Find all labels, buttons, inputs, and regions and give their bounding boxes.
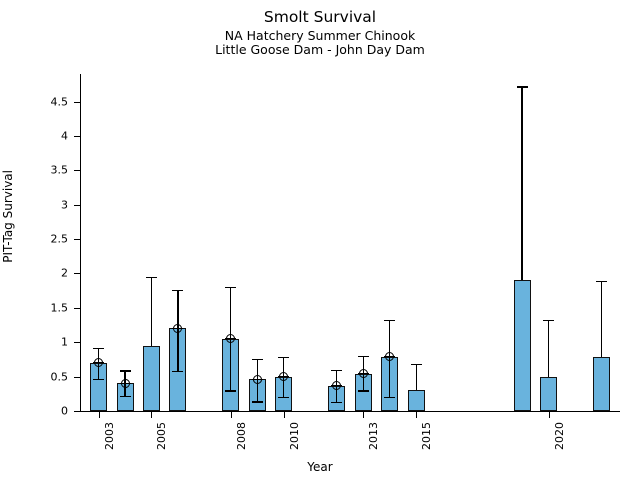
error-bar-cap-lower <box>120 396 131 397</box>
error-bar-cap-lower <box>384 397 395 398</box>
error-bar-cap-upper <box>93 348 104 349</box>
error-bar-cap-lower <box>93 379 104 380</box>
error-bar-cap-upper <box>278 357 289 358</box>
y-axis-label: PIT-Tag Survival <box>2 170 14 263</box>
title-block: Smolt Survival NA Hatchery Summer Chinoo… <box>0 10 640 57</box>
x-tick-mark <box>99 412 100 418</box>
error-bar-cap-upper <box>596 281 607 282</box>
error-bar-cap-upper <box>225 287 236 288</box>
error-bar-cap-upper <box>172 290 183 291</box>
error-bar-cap-lower <box>225 390 236 391</box>
error-bar-line <box>416 364 417 390</box>
bar <box>593 357 610 411</box>
error-bar-cap-upper <box>146 277 157 278</box>
error-bar-cap-lower <box>331 402 342 403</box>
y-tick-label: 1 <box>61 337 68 348</box>
y-tick-mark <box>74 102 80 103</box>
error-bar-cap-upper <box>252 359 263 360</box>
x-tick-mark <box>549 412 550 418</box>
x-tick-label: 2010 <box>289 422 300 450</box>
x-tick-mark <box>231 412 232 418</box>
y-tick-label: 4 <box>61 130 68 141</box>
y-tick-mark <box>74 308 80 309</box>
bar <box>143 346 160 411</box>
error-bar-cap-upper <box>411 364 422 365</box>
bar <box>514 280 531 411</box>
error-bar-line <box>601 281 602 357</box>
data-point-marker <box>121 379 130 388</box>
chart-title: Smolt Survival <box>0 10 640 26</box>
y-tick-label: 2 <box>61 268 68 279</box>
x-tick-label: 2013 <box>368 422 379 450</box>
x-axis-label: Year <box>0 460 640 474</box>
y-tick-mark <box>74 377 80 378</box>
y-tick-label: 1.5 <box>51 302 69 313</box>
x-tick-label: 2020 <box>554 422 565 450</box>
error-bar-cap-upper <box>120 370 131 371</box>
error-bar-cap-lower <box>358 390 369 391</box>
error-bar-cap-lower <box>252 401 263 402</box>
y-tick-label: 4.5 <box>51 96 69 107</box>
error-bar-cap-upper <box>543 320 554 321</box>
bar <box>408 390 425 411</box>
y-tick-mark <box>74 239 80 240</box>
error-bar-line <box>151 277 152 346</box>
y-tick-label: 3 <box>61 199 68 210</box>
chart-figure: Smolt Survival NA Hatchery Summer Chinoo… <box>0 0 640 480</box>
y-axis-line <box>80 74 81 412</box>
x-axis-line <box>80 411 620 412</box>
y-tick-mark <box>74 136 80 137</box>
bar <box>540 377 557 411</box>
error-bar-line <box>548 320 549 376</box>
chart-subtitle-line-2: Little Goose Dam - John Day Dam <box>0 44 640 57</box>
x-tick-label: 2005 <box>156 422 167 450</box>
y-tick-label: 0.5 <box>51 371 69 382</box>
x-tick-label: 2003 <box>104 422 115 450</box>
error-bar-cap-upper <box>358 356 369 357</box>
y-tick-mark <box>74 411 80 412</box>
x-tick-label: 2015 <box>421 422 432 450</box>
y-tick-mark <box>74 205 80 206</box>
error-bar-cap-upper <box>331 370 342 371</box>
chart-subtitle-line-1: NA Hatchery Summer Chinook <box>0 30 640 43</box>
y-tick-mark <box>74 273 80 274</box>
x-tick-label: 2008 <box>236 422 247 450</box>
y-tick-mark <box>74 170 80 171</box>
error-bar-cap-upper <box>517 86 528 87</box>
y-tick-label: 2.5 <box>51 234 69 245</box>
y-tick-mark <box>74 342 80 343</box>
x-tick-mark <box>284 412 285 418</box>
error-bar-cap-lower <box>172 371 183 372</box>
y-tick-label: 3.5 <box>51 165 69 176</box>
data-point-marker <box>253 375 262 384</box>
x-tick-mark <box>151 412 152 418</box>
x-tick-mark <box>363 412 364 418</box>
x-tick-mark <box>416 412 417 418</box>
error-bar-cap-lower <box>278 397 289 398</box>
y-tick-label: 0 <box>61 406 68 417</box>
error-bar-line <box>521 86 522 279</box>
error-bar-cap-upper <box>384 320 395 321</box>
